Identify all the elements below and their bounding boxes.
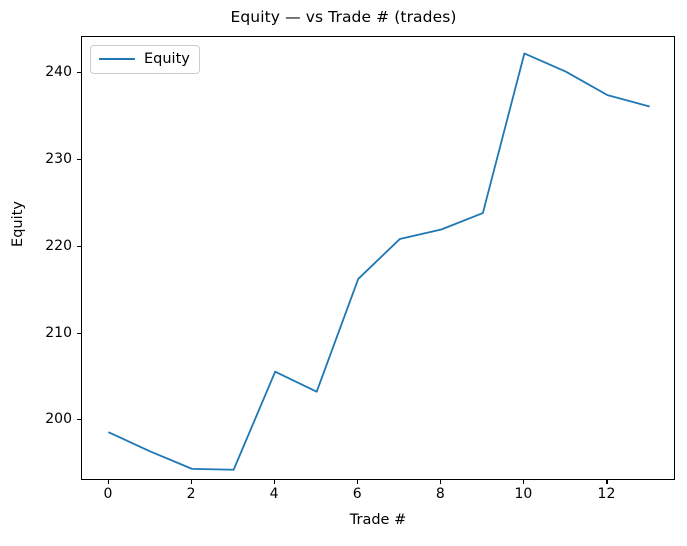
x-tick-label: 6 [337,486,377,502]
plot-canvas [82,37,676,481]
legend-label-equity: Equity [144,52,190,67]
x-tick-label: 2 [171,486,211,502]
x-tick-label: 8 [420,486,460,502]
x-tick-label: 4 [254,486,294,502]
chart-legend: Equity [90,45,200,74]
y-tick-label: 230 [0,151,72,167]
x-tick-label: 12 [586,486,626,502]
x-tick-label: 0 [88,486,128,502]
plot-axes [81,36,675,480]
legend-line-swatch-equity [99,58,135,60]
y-tick-label: 210 [0,325,72,341]
y-tick-label: 240 [0,64,72,80]
x-tick-label: 10 [503,486,543,502]
line-series-equity [109,53,649,469]
chart-figure: Equity — vs Trade # (trades) Equity Trad… [0,0,687,546]
y-tick-label: 220 [0,238,72,254]
y-axis-label: Equity [10,164,26,284]
chart-title: Equity — vs Trade # (trades) [0,8,687,26]
y-tick-label: 200 [0,411,72,427]
x-axis-label: Trade # [81,512,675,528]
